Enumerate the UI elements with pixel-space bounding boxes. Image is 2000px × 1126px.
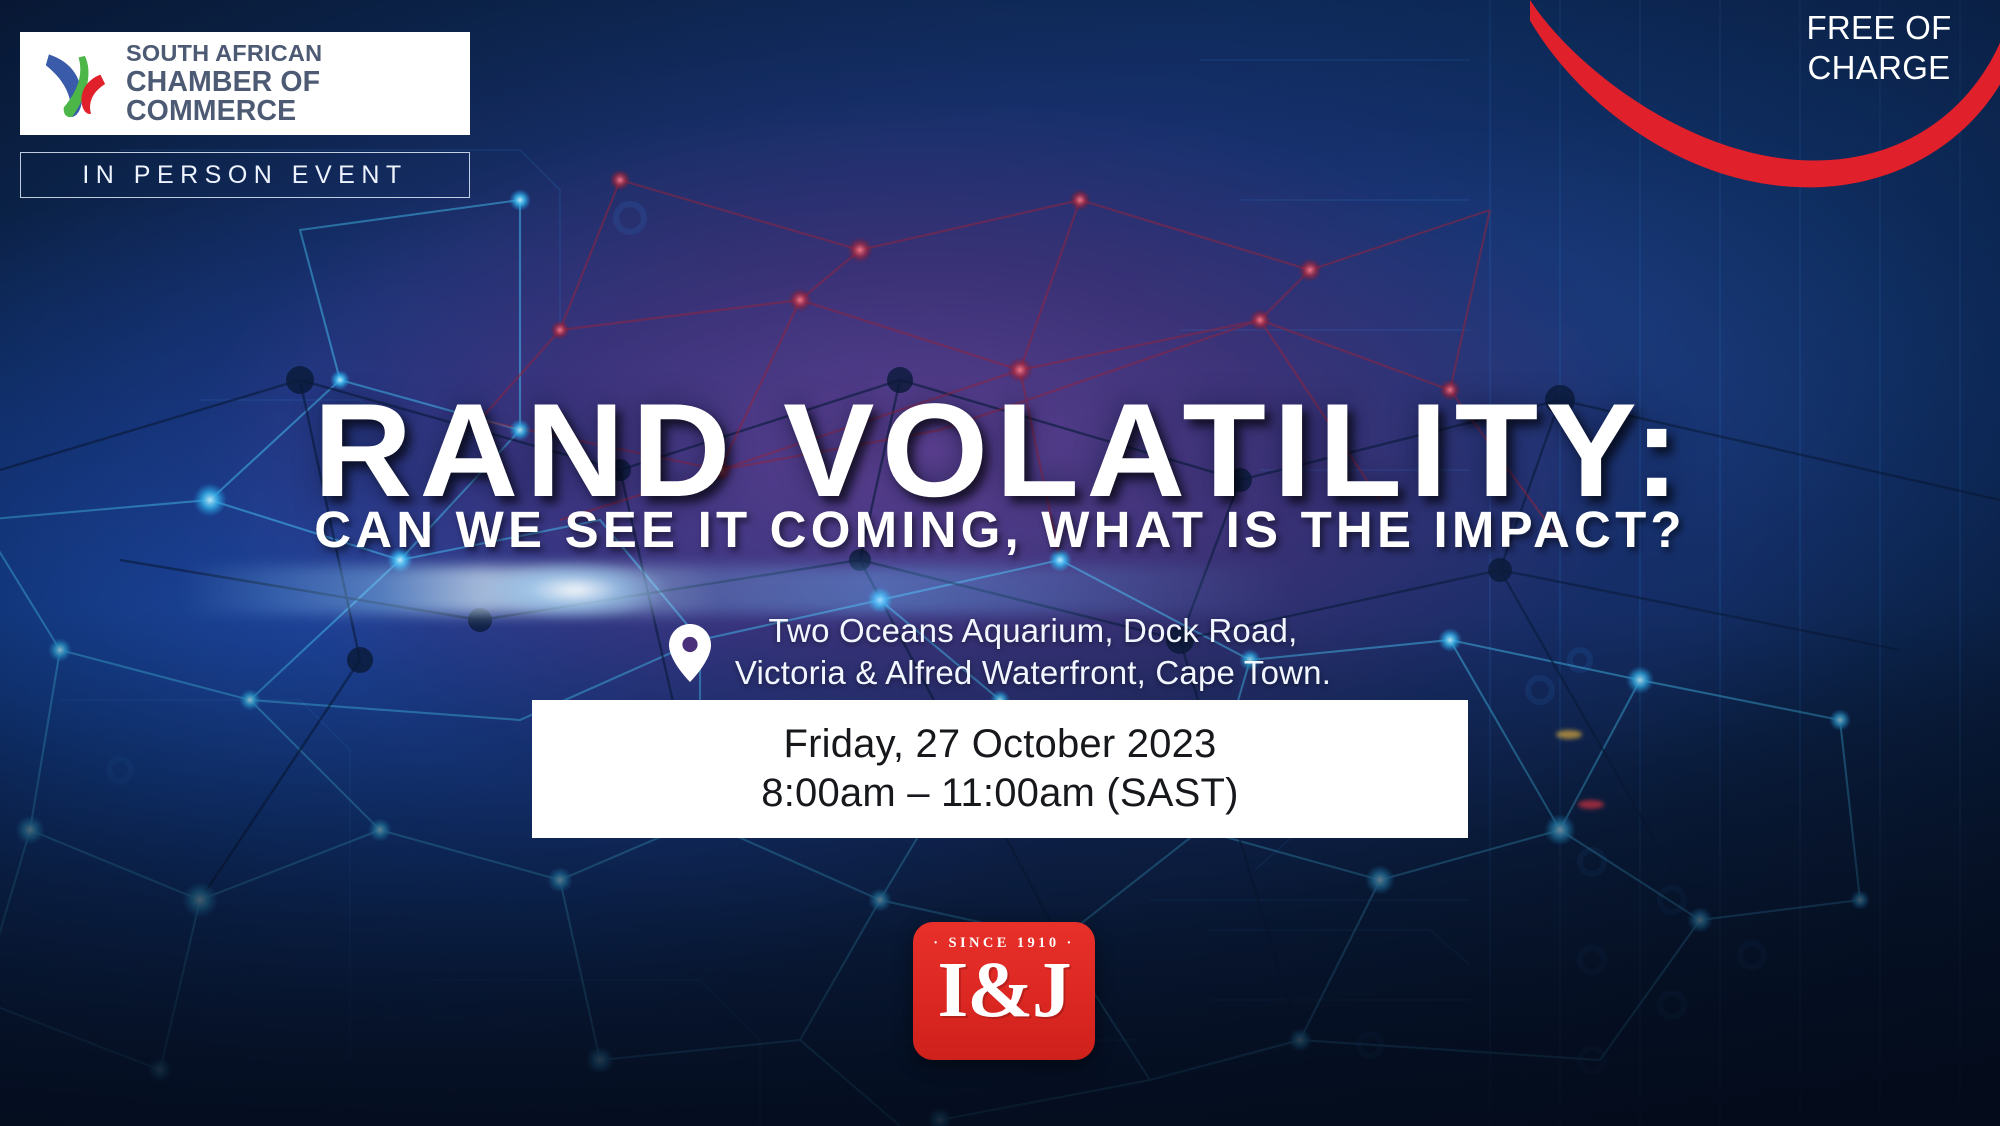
lens-flare-dot-red xyxy=(1578,800,1604,809)
chamber-logo-card: SOUTH AFRICAN CHAMBER OF COMMERCE xyxy=(20,32,470,135)
location-pin-icon xyxy=(669,624,711,682)
venue-line2: Victoria & Alfred Waterfront, Cape Town. xyxy=(735,652,1331,694)
ij-wordmark: I&J xyxy=(937,950,1070,1033)
ij-sponsor-logo: · SINCE 1910 · I&J xyxy=(913,922,1095,1060)
venue-block: Two Oceans Aquarium, Dock Road, Victoria… xyxy=(0,610,2000,694)
date-time-box: Friday, 27 October 2023 8:00am – 11:00am… xyxy=(532,700,1468,838)
price-line2: CHARGE xyxy=(1784,48,1974,88)
lens-flare-streak xyxy=(180,566,1300,614)
chamber-swoosh-logo-icon xyxy=(38,45,116,123)
free-of-charge-badge: FREE OF CHARGE xyxy=(1530,0,2000,190)
free-of-charge-text: FREE OF CHARGE xyxy=(1784,8,1974,89)
chamber-logo-line1: SOUTH AFRICAN xyxy=(126,42,470,66)
event-format-badge: IN PERSON EVENT xyxy=(20,152,470,198)
event-banner: SOUTH AFRICAN CHAMBER OF COMMERCE IN PER… xyxy=(0,0,2000,1126)
chamber-logo-text: SOUTH AFRICAN CHAMBER OF COMMERCE xyxy=(126,42,470,126)
event-time: 8:00am – 11:00am (SAST) xyxy=(761,769,1238,818)
page-subtitle: CAN WE SEE IT COMING, WHAT IS THE IMPACT… xyxy=(0,504,2000,555)
lens-flare-dot-amber xyxy=(1556,730,1582,739)
page-title: RAND VOLATILITY: xyxy=(0,385,2000,518)
event-date: Friday, 27 October 2023 xyxy=(784,720,1217,769)
chamber-logo-line2: CHAMBER OF COMMERCE xyxy=(126,68,470,125)
venue-address: Two Oceans Aquarium, Dock Road, Victoria… xyxy=(735,610,1331,694)
price-line1: FREE OF xyxy=(1784,8,1974,48)
venue-line1: Two Oceans Aquarium, Dock Road, xyxy=(735,610,1331,652)
